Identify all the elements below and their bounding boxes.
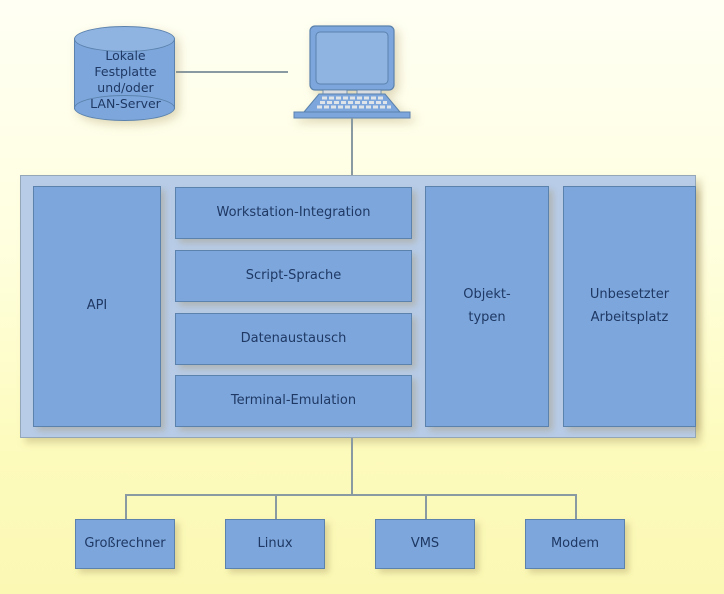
block-terminal-emulation[interactable]: Terminal-Emulation: [175, 375, 412, 427]
block-unbesetzter-arbeitsplatz-label: Unbesetzter Arbeitsplatz: [590, 284, 669, 330]
storage-label: Lokale Festplatte und/oder LAN-Server: [74, 48, 177, 112]
storage-cylinder[interactable]: Lokale Festplatte und/oder LAN-Server: [74, 26, 177, 122]
storage-label-line-4: LAN-Server: [74, 96, 177, 112]
node-grossrechner-label: Großrechner: [84, 533, 165, 556]
computer-node[interactable]: [286, 24, 418, 120]
block-unbesetzter-arbeitsplatz[interactable]: Unbesetzter Arbeitsplatz: [563, 186, 696, 427]
connector-computer-to-container: [351, 118, 353, 176]
node-vms-label: VMS: [411, 533, 439, 556]
storage-label-line-1: Lokale: [74, 48, 177, 64]
block-script-sprache-label: Script-Sprache: [246, 265, 342, 288]
connector-bus-to-grossrechner: [125, 494, 127, 520]
block-objekttypen[interactable]: Objekt- typen: [425, 186, 549, 427]
block-objekttypen-line-2: typen: [468, 310, 505, 325]
storage-label-line-2: Festplatte: [74, 64, 177, 80]
connector-bus-horizontal: [125, 494, 576, 496]
storage-label-line-3: und/oder: [74, 80, 177, 96]
node-linux-label: Linux: [257, 533, 292, 556]
block-unbesetzter-line-2: Arbeitsplatz: [591, 310, 669, 325]
node-modem-label: Modem: [551, 533, 599, 556]
block-api-label: API: [87, 295, 108, 318]
block-objekttypen-label: Objekt- typen: [463, 284, 510, 330]
connector-bus-to-modem: [575, 494, 577, 520]
node-linux[interactable]: Linux: [225, 519, 325, 569]
block-datenaustausch-label: Datenaustausch: [241, 328, 347, 351]
block-script-sprache[interactable]: Script-Sprache: [175, 250, 412, 302]
desktop-computer-icon: [286, 24, 418, 120]
node-grossrechner[interactable]: Großrechner: [75, 519, 175, 569]
diagram-canvas: Lokale Festplatte und/oder LAN-Server: [0, 0, 724, 594]
block-objekttypen-line-1: Objekt-: [463, 287, 510, 302]
block-workstation-integration-label: Workstation-Integration: [217, 202, 371, 225]
connector-bus-to-linux: [275, 494, 277, 520]
connector-storage-to-computer: [176, 71, 288, 73]
node-modem[interactable]: Modem: [525, 519, 625, 569]
connector-container-to-bus: [351, 438, 353, 495]
node-vms[interactable]: VMS: [375, 519, 475, 569]
block-terminal-emulation-label: Terminal-Emulation: [231, 390, 356, 413]
block-workstation-integration[interactable]: Workstation-Integration: [175, 187, 412, 239]
connector-bus-to-vms: [425, 494, 427, 520]
block-unbesetzter-line-1: Unbesetzter: [590, 287, 669, 302]
block-api[interactable]: API: [33, 186, 161, 427]
block-datenaustausch[interactable]: Datenaustausch: [175, 313, 412, 365]
